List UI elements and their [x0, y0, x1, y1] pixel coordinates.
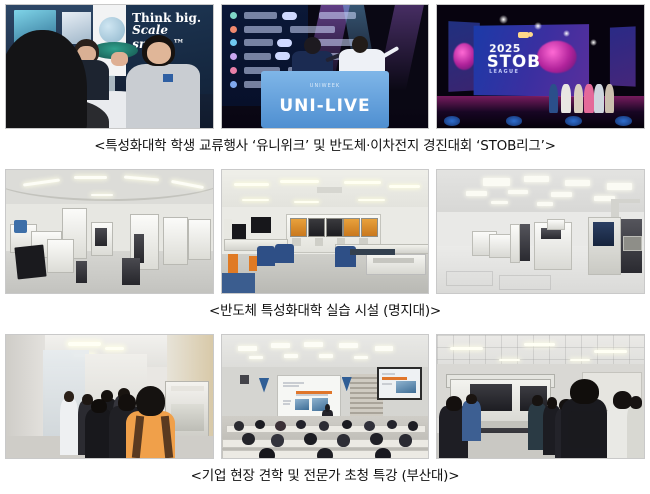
caption-row-1: <특성화대학 학생 교류행사 ‘유니위크’ 및 반도체·이차전지 경진대회 ‘S…	[0, 129, 650, 164]
scene-booth-consultation: Think big. Scale small.™	[6, 5, 213, 128]
photo-5-lab-ovens	[221, 169, 430, 294]
photo-row-group-1: Think big. Scale small.™	[0, 4, 650, 164]
photo-9-equipment-tour	[436, 334, 645, 459]
scene-uni-live-stage: UNIWEEK UNI-LIVE	[222, 5, 429, 128]
photo-8-lecture-hall	[221, 334, 430, 459]
photo-6-cleanroom	[436, 169, 645, 294]
scene-corridor-tour	[6, 335, 213, 458]
document-page: Think big. Scale small.™	[0, 4, 650, 494]
caption-row-2: <반도체 특성화대학 실습 시설 (명지대)>	[0, 294, 650, 329]
scene-lab-panorama	[6, 170, 213, 293]
scene-lecture-hall	[222, 335, 429, 458]
photo-2-uni-live-stage: UNIWEEK UNI-LIVE	[221, 4, 430, 129]
caption-row-3: <기업 현장 견학 및 전문가 초청 특강 (부산대)>	[0, 459, 650, 494]
photo-3-stob-league-stage: 2025 STOB LEAGUE	[436, 4, 645, 129]
scene-lab-ovens	[222, 170, 429, 293]
photo-row-group-3: <기업 현장 견학 및 전문가 초청 특강 (부산대)>	[0, 334, 650, 494]
photo-row-3	[0, 334, 650, 459]
photo-1-booth-consultation: Think big. Scale small.™	[5, 4, 214, 129]
photo-7-corridor-tour	[5, 334, 214, 459]
photo-row-2	[0, 169, 650, 294]
podium-subtitle: UNIWEEK	[261, 83, 389, 89]
scene-stob-league-stage: 2025 STOB LEAGUE	[437, 5, 644, 128]
photo-4-lab-panorama	[5, 169, 214, 294]
podium-title: UNI-LIVE	[261, 96, 389, 116]
scene-equipment-tour	[437, 335, 644, 458]
photo-row-1: Think big. Scale small.™	[0, 4, 650, 129]
stob-subtitle: LEAGUE	[490, 69, 520, 75]
scene-cleanroom	[437, 170, 644, 293]
photo-row-group-2: <반도체 특성화대학 실습 시설 (명지대)>	[0, 169, 650, 329]
